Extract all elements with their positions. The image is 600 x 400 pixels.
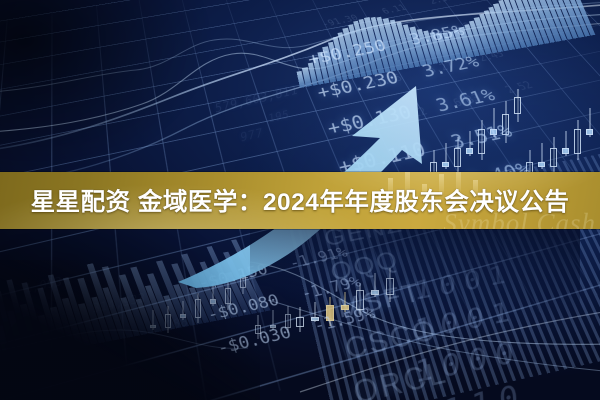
page-title: 星星配资 金域医学：2024年年度股东会决议公告: [0, 172, 600, 229]
lower-left-histogram: [0, 238, 271, 364]
board-number: 977: [240, 125, 263, 144]
gain-percent: 3.61%: [433, 80, 519, 116]
binary-row: 1000: [414, 306, 600, 396]
binary-digits: 10011001100001101010: [414, 234, 600, 400]
ticker-symbol: CSCO: [342, 313, 441, 367]
loss-delta: -$0.150: [186, 261, 270, 295]
gain-quote-row: +$0.2503.85%: [300, 18, 486, 70]
ticker-symbol: QQQ: [328, 242, 419, 287]
loss-quote-column: -$0.150-1.91%-$0.080-1.79%-$0.030-1.59%: [186, 242, 394, 377]
candlestick: [150, 232, 156, 352]
candlestick: [270, 232, 276, 352]
gain-percent: 3.72%: [419, 48, 502, 81]
board-number: 579,603,811: [215, 82, 299, 115]
candlestick: [311, 236, 319, 346]
candlestick: [296, 236, 304, 346]
headline-band: Symbol Cash 星星配资 金域医学：2024年年度股东会决议公告: [0, 172, 600, 229]
gain-quote-row: +$0.1303.61%: [319, 80, 519, 140]
ticker-symbol-list: GENZQQQMSFTCSCOORCLSIRI: [322, 211, 472, 400]
loss-delta: -$0.030: [204, 323, 294, 361]
top-histogram: [284, 0, 595, 88]
candlestick: [255, 232, 261, 352]
gain-percent: 3.51%: [448, 115, 537, 154]
ticker-symbol: ORCL: [350, 353, 454, 400]
gain-delta: +$0.130: [319, 102, 415, 141]
gain-quote-row: +$0.2303.72%: [309, 48, 502, 104]
loss-quote-row: -$0.080-1.79%: [195, 271, 372, 327]
candlestick: [210, 232, 216, 352]
dark-wedge-right: [250, 228, 580, 368]
loss-percent: -1.91%: [287, 242, 359, 272]
candlestick: [195, 232, 201, 352]
candlestick: [326, 236, 334, 346]
binary-row: 1001: [414, 268, 600, 351]
gain-percent: 3.85%: [407, 18, 487, 49]
board-number: 195: [268, 108, 290, 126]
candlestick: [285, 232, 291, 352]
loss-percent: -1.59%: [311, 302, 387, 336]
dark-wedge-left: [0, 260, 260, 400]
gain-delta: +$0.230: [309, 68, 401, 104]
candlestick: [356, 236, 364, 346]
candlestick-chart-lowleft: [150, 232, 320, 352]
candlestick: [386, 236, 394, 346]
loss-quote-row: -$0.030-1.59%: [204, 302, 386, 361]
candlestick: [371, 236, 379, 346]
candlestick-chart-lower: [296, 236, 426, 346]
loss-quote-row: -$0.150-1.91%: [186, 242, 358, 295]
binary-row: 0110: [414, 346, 600, 400]
board-number: 1,093: [24, 274, 62, 296]
candlestick: [165, 232, 171, 352]
finance-news-banner: -91.425.982.17-91.316.032.24-91.306.112.…: [0, 0, 600, 400]
board-number: 2,188: [150, 314, 188, 336]
ticker-symbol: MSFT: [335, 276, 430, 325]
candlestick: [180, 232, 186, 352]
gain-delta: +$0.250: [300, 36, 389, 70]
loss-percent: -1.79%: [298, 271, 372, 303]
candlestick: [341, 236, 349, 346]
gain-quote-row: +$0.1103.51%: [329, 115, 536, 180]
board-number: 314,933: [92, 290, 145, 315]
candlestick: [240, 232, 246, 352]
binary-row: 1010: [415, 390, 600, 400]
candlestick: [225, 232, 231, 352]
binary-row: 1001: [414, 234, 600, 311]
loss-delta: -$0.080: [195, 291, 282, 327]
